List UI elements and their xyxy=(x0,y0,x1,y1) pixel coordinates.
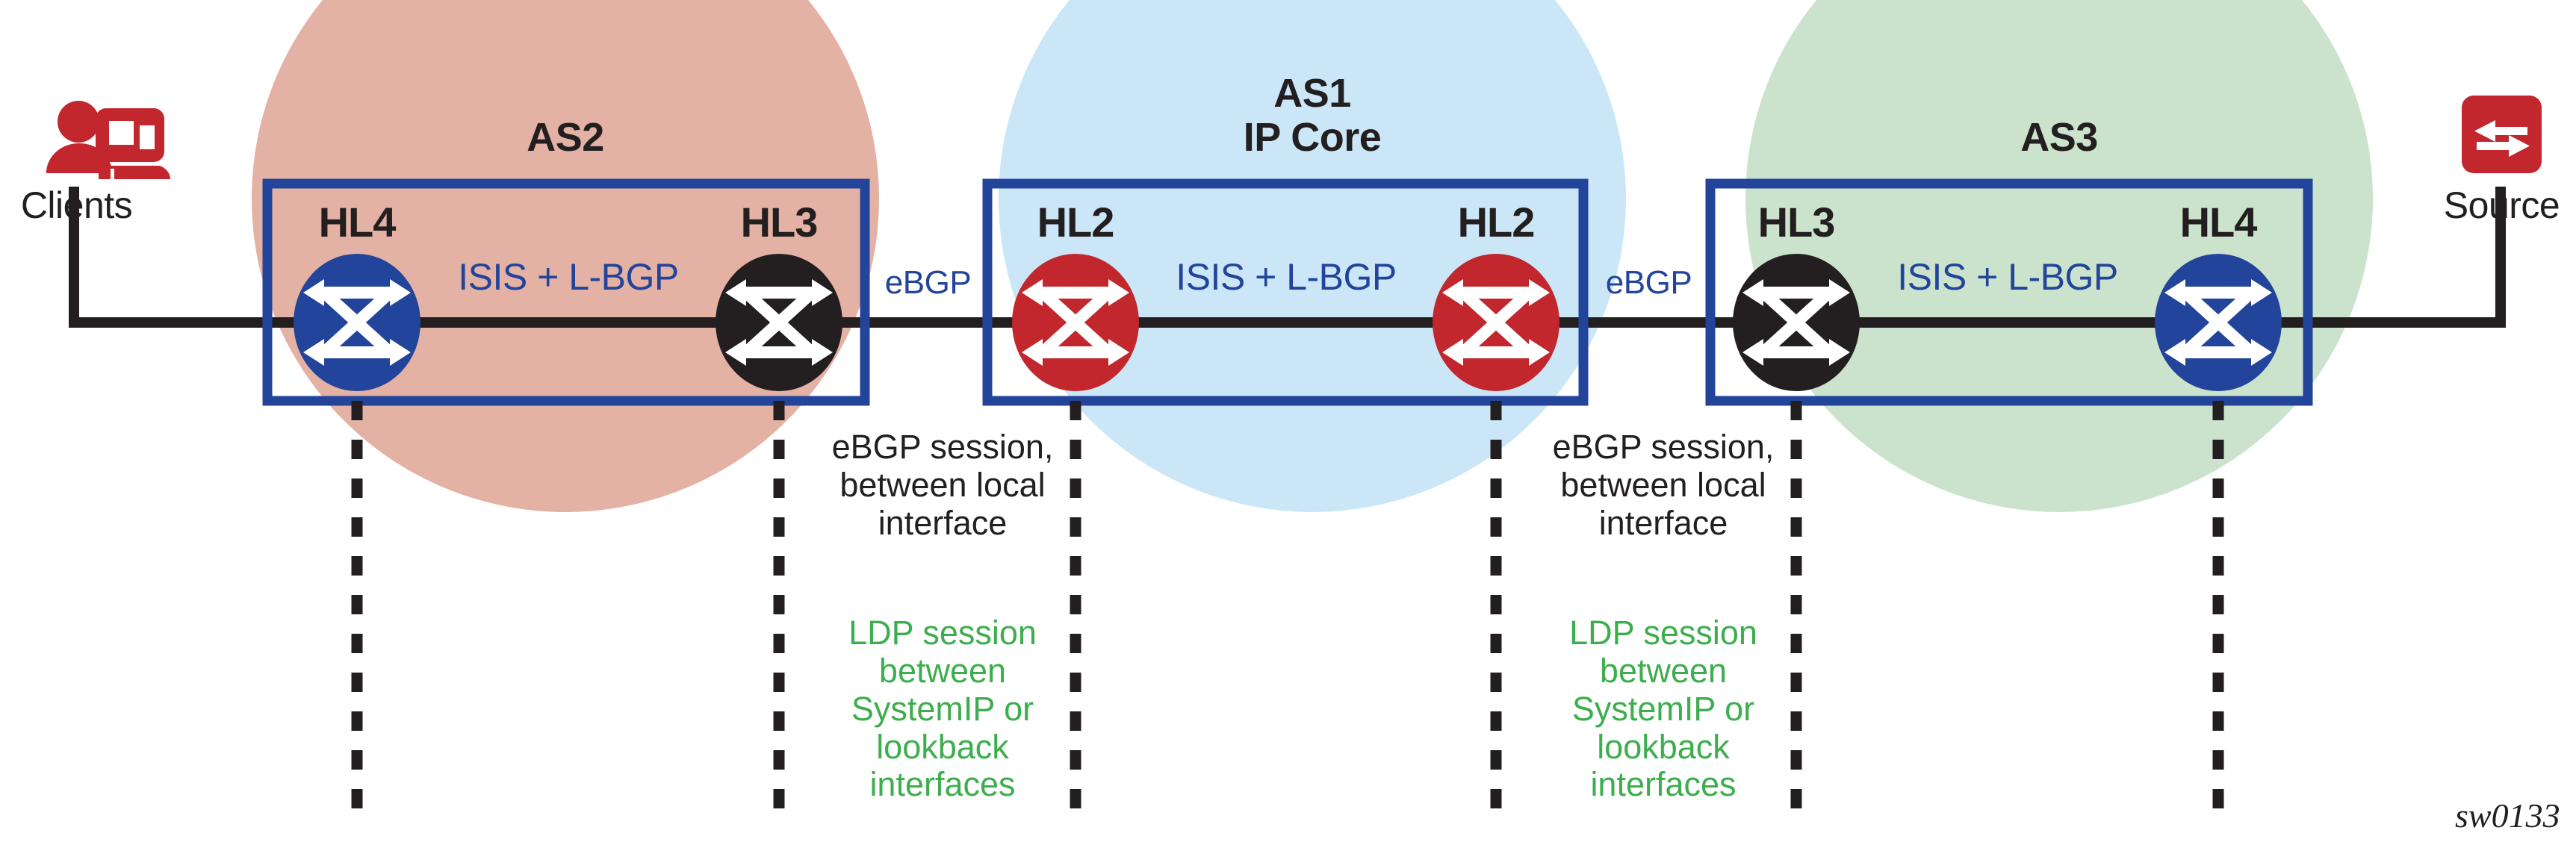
bidirectional-arrows-icon xyxy=(2462,96,2542,173)
ebgp-link-label-as1-as3: eBGP xyxy=(1587,265,1710,301)
ebgp-session-note-as1-as3: eBGP session, between local interface xyxy=(1521,428,1805,543)
clients-icon xyxy=(46,101,170,182)
router-label-as1-hl2-left: HL2 xyxy=(982,200,1169,245)
ebgp-session-note-as2-as1: eBGP session, between local interface xyxy=(801,428,1084,543)
as3-protocol-label: ISIS + L-BGP xyxy=(1877,257,2138,297)
as1-title: AS1 xyxy=(1163,72,1462,115)
source-label: Source xyxy=(2421,185,2576,225)
router-label-as2-hl3: HL3 xyxy=(686,200,872,245)
router-as1-hl2-left[interactable] xyxy=(1012,254,1139,391)
clients-label: Clients xyxy=(0,185,157,225)
router-as2-hl4[interactable] xyxy=(294,254,420,391)
as2-protocol-label: ISIS + L-BGP xyxy=(438,257,699,297)
ebgp-link-label-as2-as1: eBGP xyxy=(866,265,990,301)
router-as3-hl4[interactable] xyxy=(2155,254,2282,391)
as2-title: AS2 xyxy=(416,116,715,159)
router-label-as3-hl4: HL4 xyxy=(2125,200,2312,245)
router-as2-hl3[interactable] xyxy=(716,254,842,391)
as3-title: AS3 xyxy=(1910,116,2209,159)
router-as3-hl3[interactable] xyxy=(1733,254,1860,391)
router-label-as2-hl4: HL4 xyxy=(264,200,450,245)
ldp-session-note-as2-as1: LDP session between SystemIP or lookback… xyxy=(801,614,1084,804)
router-label-as3-hl3: HL3 xyxy=(1703,200,1890,245)
figure-id-watermark: sw0133 xyxy=(2455,797,2560,835)
router-as1-hl2-right[interactable] xyxy=(1433,254,1559,391)
as1-protocol-label: ISIS + L-BGP xyxy=(1155,257,1417,297)
network-diagram-canvas: Clients Source AS2 AS1 IP Core AS3 HL4 H… xyxy=(0,0,2576,845)
as1-subtitle: IP Core xyxy=(1163,116,1462,159)
router-label-as1-hl2-right: HL2 xyxy=(1403,200,1589,245)
ldp-session-note-as1-as3: LDP session between SystemIP or lookback… xyxy=(1521,614,1805,804)
